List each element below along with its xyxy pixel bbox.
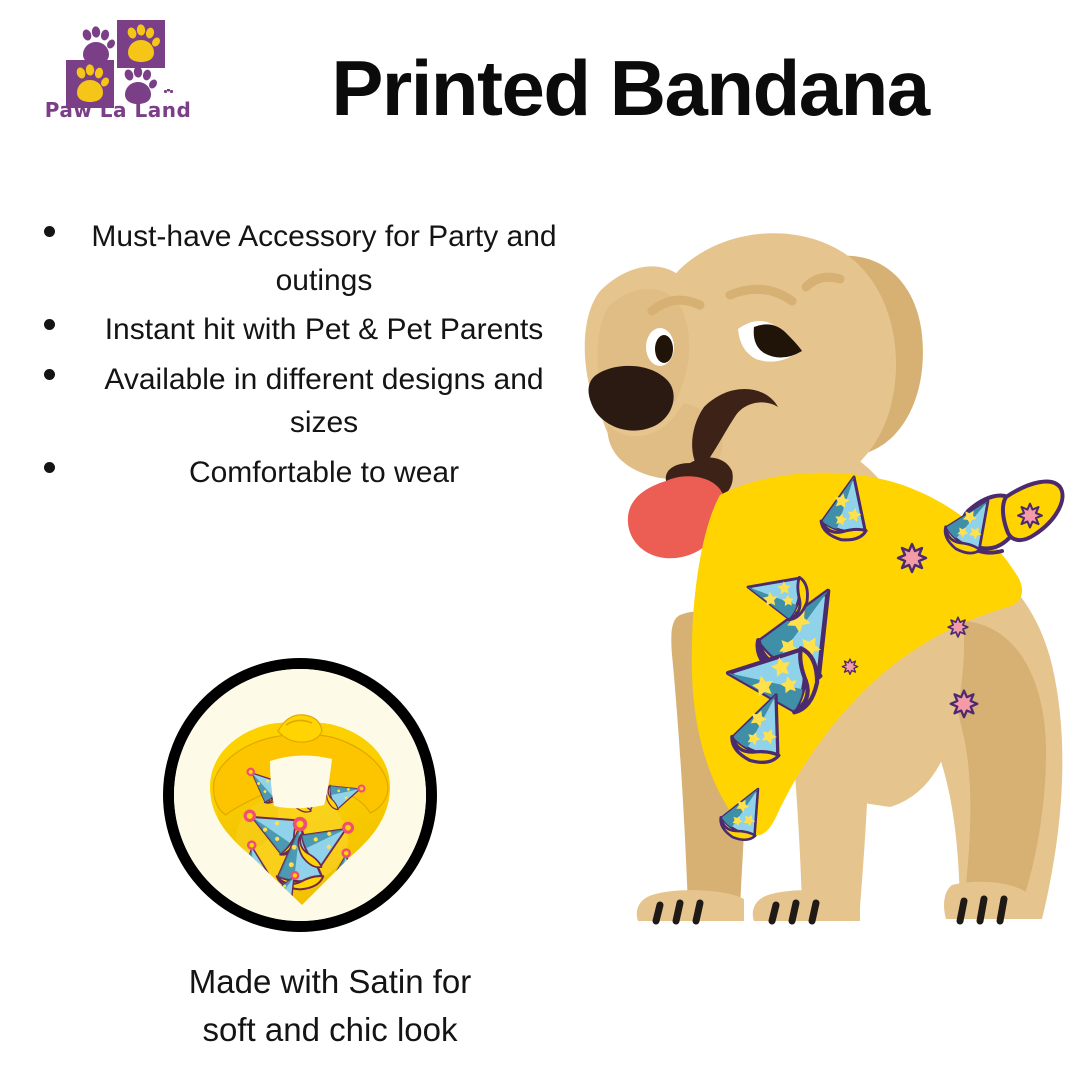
list-item-label: Available in different designs and sizes — [22, 358, 582, 445]
product-photo-ring — [163, 658, 437, 932]
pompom-dot — [842, 659, 857, 674]
dog-front-paw-near — [753, 890, 860, 921]
folded-yellow-party-hat-bandana-image — [174, 669, 426, 921]
brand-logo[interactable]: Paw La Land — [38, 22, 198, 137]
list-item: Available in different designs and sizes — [22, 358, 582, 445]
pompom-dot — [951, 691, 978, 718]
caption-line-1: Made with Satin for — [90, 958, 570, 1006]
list-item: Must-have Accessory for Party and outing… — [22, 215, 582, 302]
paw-icon — [117, 20, 165, 68]
product-photo-caption: Made with Satin for soft and chic look — [90, 958, 570, 1054]
pompom-dot — [1018, 504, 1042, 528]
dog-front-paw-far — [637, 890, 744, 921]
bullet-dot-icon — [44, 462, 55, 473]
golden-labrador-wearing-bandana-illustration — [560, 195, 1080, 995]
caption-line-2: soft and chic look — [90, 1006, 570, 1054]
bandana-neck-opening — [270, 755, 332, 808]
pompom-dot — [898, 544, 926, 572]
dog-eye-far — [646, 328, 674, 366]
pompom-dot — [948, 617, 968, 637]
list-item-label: Comfortable to wear — [22, 451, 582, 495]
list-item-label: Must-have Accessory for Party and outing… — [22, 215, 582, 302]
dog-nose — [589, 366, 674, 431]
poster-canvas: Paw La Land Printed Bandana Must-have Ac… — [0, 0, 1080, 1080]
bullet-dot-icon — [44, 369, 55, 380]
bullet-dot-icon — [44, 226, 55, 237]
bullet-dot-icon — [44, 319, 55, 330]
page-title: Printed Bandana — [300, 48, 960, 130]
paw-print-yellow-top-right — [117, 20, 165, 68]
list-item-label: Instant hit with Pet & Pet Parents — [22, 308, 582, 352]
list-item: Instant hit with Pet & Pet Parents — [22, 308, 582, 352]
feature-list: Must-have Accessory for Party and outing… — [22, 215, 582, 500]
four-paw-grid-logo-icon — [60, 22, 172, 94]
list-item: Comfortable to wear — [22, 451, 582, 495]
brand-wordmark: Paw La Land — [38, 98, 198, 122]
product-photo[interactable] — [163, 658, 437, 932]
